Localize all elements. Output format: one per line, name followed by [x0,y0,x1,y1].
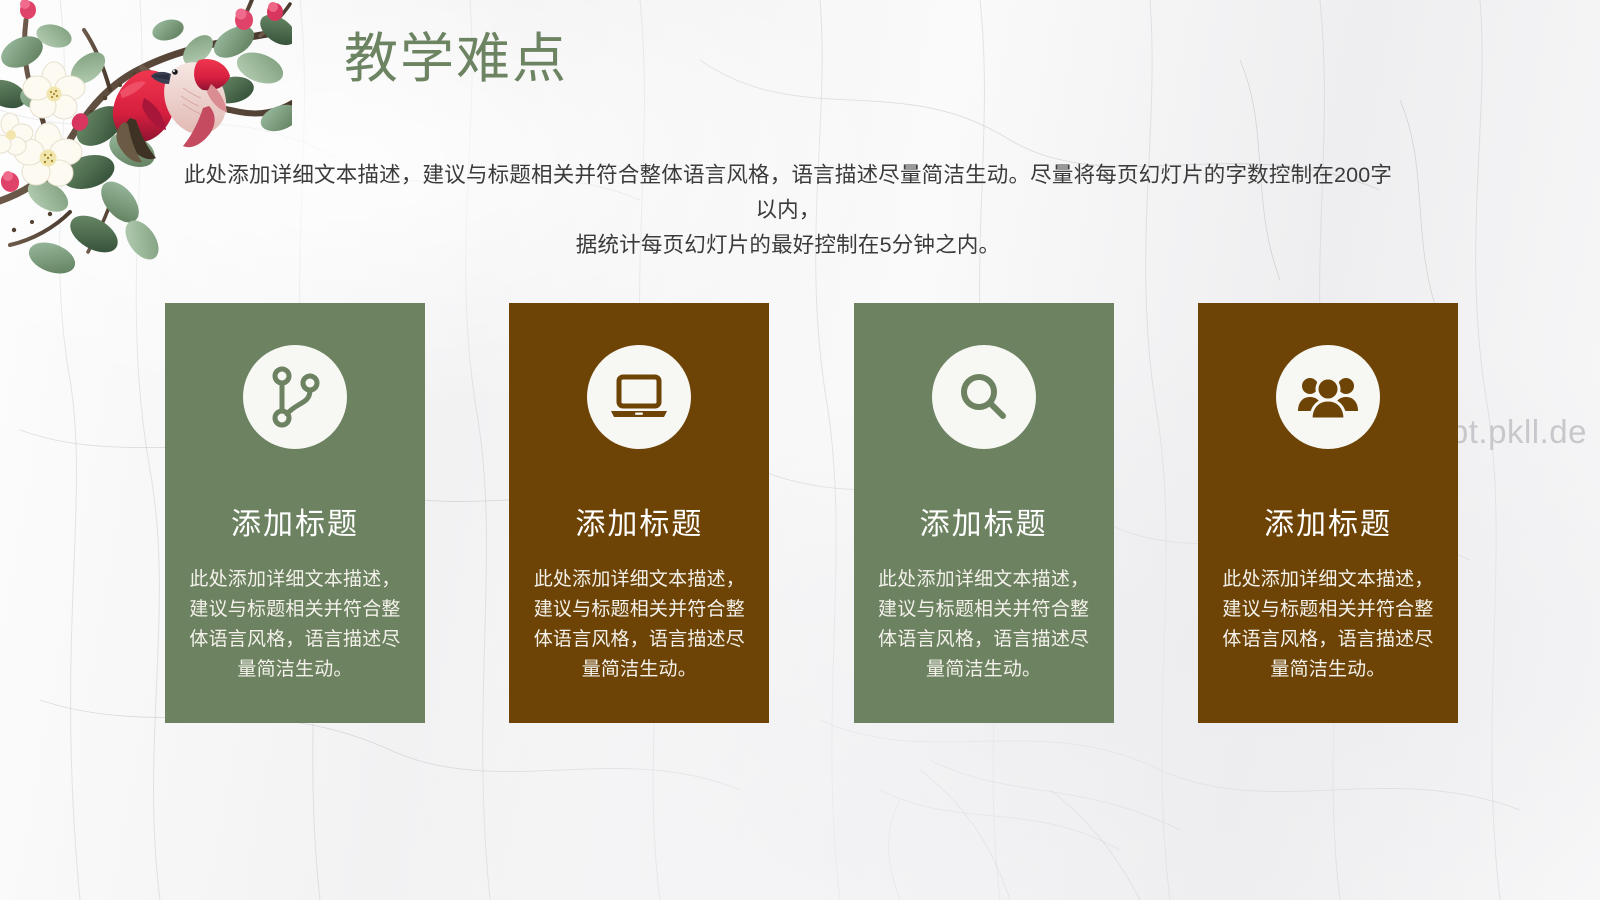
search-icon [956,369,1012,425]
page-title: 教学难点 [344,28,568,90]
intro-line-1: 此处添加详细文本描述，建议与标题相关并符合整体语言风格，语言描述尽量简洁生动。尽… [178,158,1398,193]
intro-paragraph: 此处添加详细文本描述，建议与标题相关并符合整体语言风格，语言描述尽量简洁生动。尽… [178,158,1398,263]
slide-canvas: 教学难点 此处添加详细文本描述，建议与标题相关并符合整体语言风格，语言描述尽量简… [0,0,1600,900]
card-2[interactable]: 添加标题 此处添加详细文本描述，建议与标题相关并符合整体语言风格，语言描述尽量简… [509,303,769,723]
card-row: 添加标题 此处添加详细文本描述，建议与标题相关并符合整体语言风格，语言描述尽量简… [165,303,1458,723]
card-1-icon-circle [243,345,347,449]
card-3-icon-circle [932,345,1036,449]
card-1-title: 添加标题 [231,499,359,543]
card-4-title: 添加标题 [1264,499,1392,543]
git-branch-icon [267,366,323,428]
card-3-title: 添加标题 [920,499,1048,543]
intro-line-3: 据统计每页幻灯片的最好控制在5分钟之内。 [178,228,1398,263]
card-2-body: 此处添加详细文本描述，建议与标题相关并符合整体语言风格，语言描述尽量简洁生动。 [530,565,748,685]
card-3[interactable]: 添加标题 此处添加详细文本描述，建议与标题相关并符合整体语言风格，语言描述尽量简… [854,303,1114,723]
card-1[interactable]: 添加标题 此处添加详细文本描述，建议与标题相关并符合整体语言风格，语言描述尽量简… [165,303,425,723]
card-2-icon-circle [587,345,691,449]
card-4[interactable]: 添加标题 此处添加详细文本描述，建议与标题相关并符合整体语言风格，语言描述尽量简… [1198,303,1458,723]
card-4-icon-circle [1276,345,1380,449]
card-4-body: 此处添加详细文本描述，建议与标题相关并符合整体语言风格，语言描述尽量简洁生动。 [1219,565,1437,685]
card-1-body: 此处添加详细文本描述，建议与标题相关并符合整体语言风格，语言描述尽量简洁生动。 [186,565,404,685]
laptop-icon [608,373,670,421]
intro-line-2: 以内， [178,193,1398,228]
users-group-icon [1296,373,1360,421]
card-3-body: 此处添加详细文本描述，建议与标题相关并符合整体语言风格，语言描述尽量简洁生动。 [875,565,1093,685]
card-2-title: 添加标题 [575,499,703,543]
